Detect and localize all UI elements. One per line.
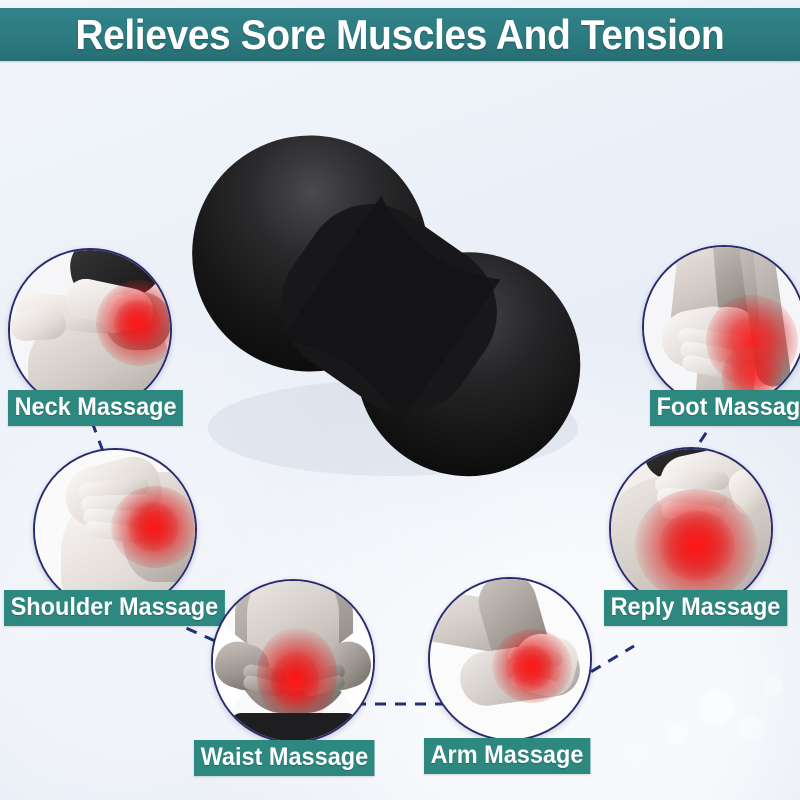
bokeh-decoration <box>700 690 734 724</box>
arm-massage-photo[interactable] <box>428 577 592 741</box>
callout-label-neck: Neck Massage <box>8 390 183 426</box>
bokeh-decoration <box>628 744 646 762</box>
neck-massage-photo[interactable] <box>8 248 172 412</box>
bokeh-decoration <box>666 722 688 744</box>
bokeh-decoration <box>738 716 764 742</box>
callout-label-shoulder: Shoulder Massage <box>4 590 225 626</box>
shoulder-massage-photo[interactable] <box>33 448 197 612</box>
bokeh-decoration <box>372 742 392 762</box>
peanut-massage-ball <box>168 108 608 508</box>
callout-label-waist: Waist Massage <box>194 740 375 776</box>
callout-label-arm: Arm Massage <box>424 738 590 774</box>
bokeh-decoration <box>762 676 782 696</box>
page-title: Relieves Sore Muscles And Tension <box>76 14 725 56</box>
reply-massage-photo[interactable] <box>609 447 773 611</box>
foot-massage-photo[interactable] <box>642 245 800 409</box>
waist-massage-photo[interactable] <box>211 579 375 743</box>
header-banner: Relieves Sore Muscles And Tension <box>0 8 800 61</box>
callout-label-foot: Foot Massage <box>650 390 800 426</box>
callout-label-reply: Reply Massage <box>604 590 787 626</box>
product-marketing-image: Relieves Sore Muscles And Tension <box>0 0 800 800</box>
